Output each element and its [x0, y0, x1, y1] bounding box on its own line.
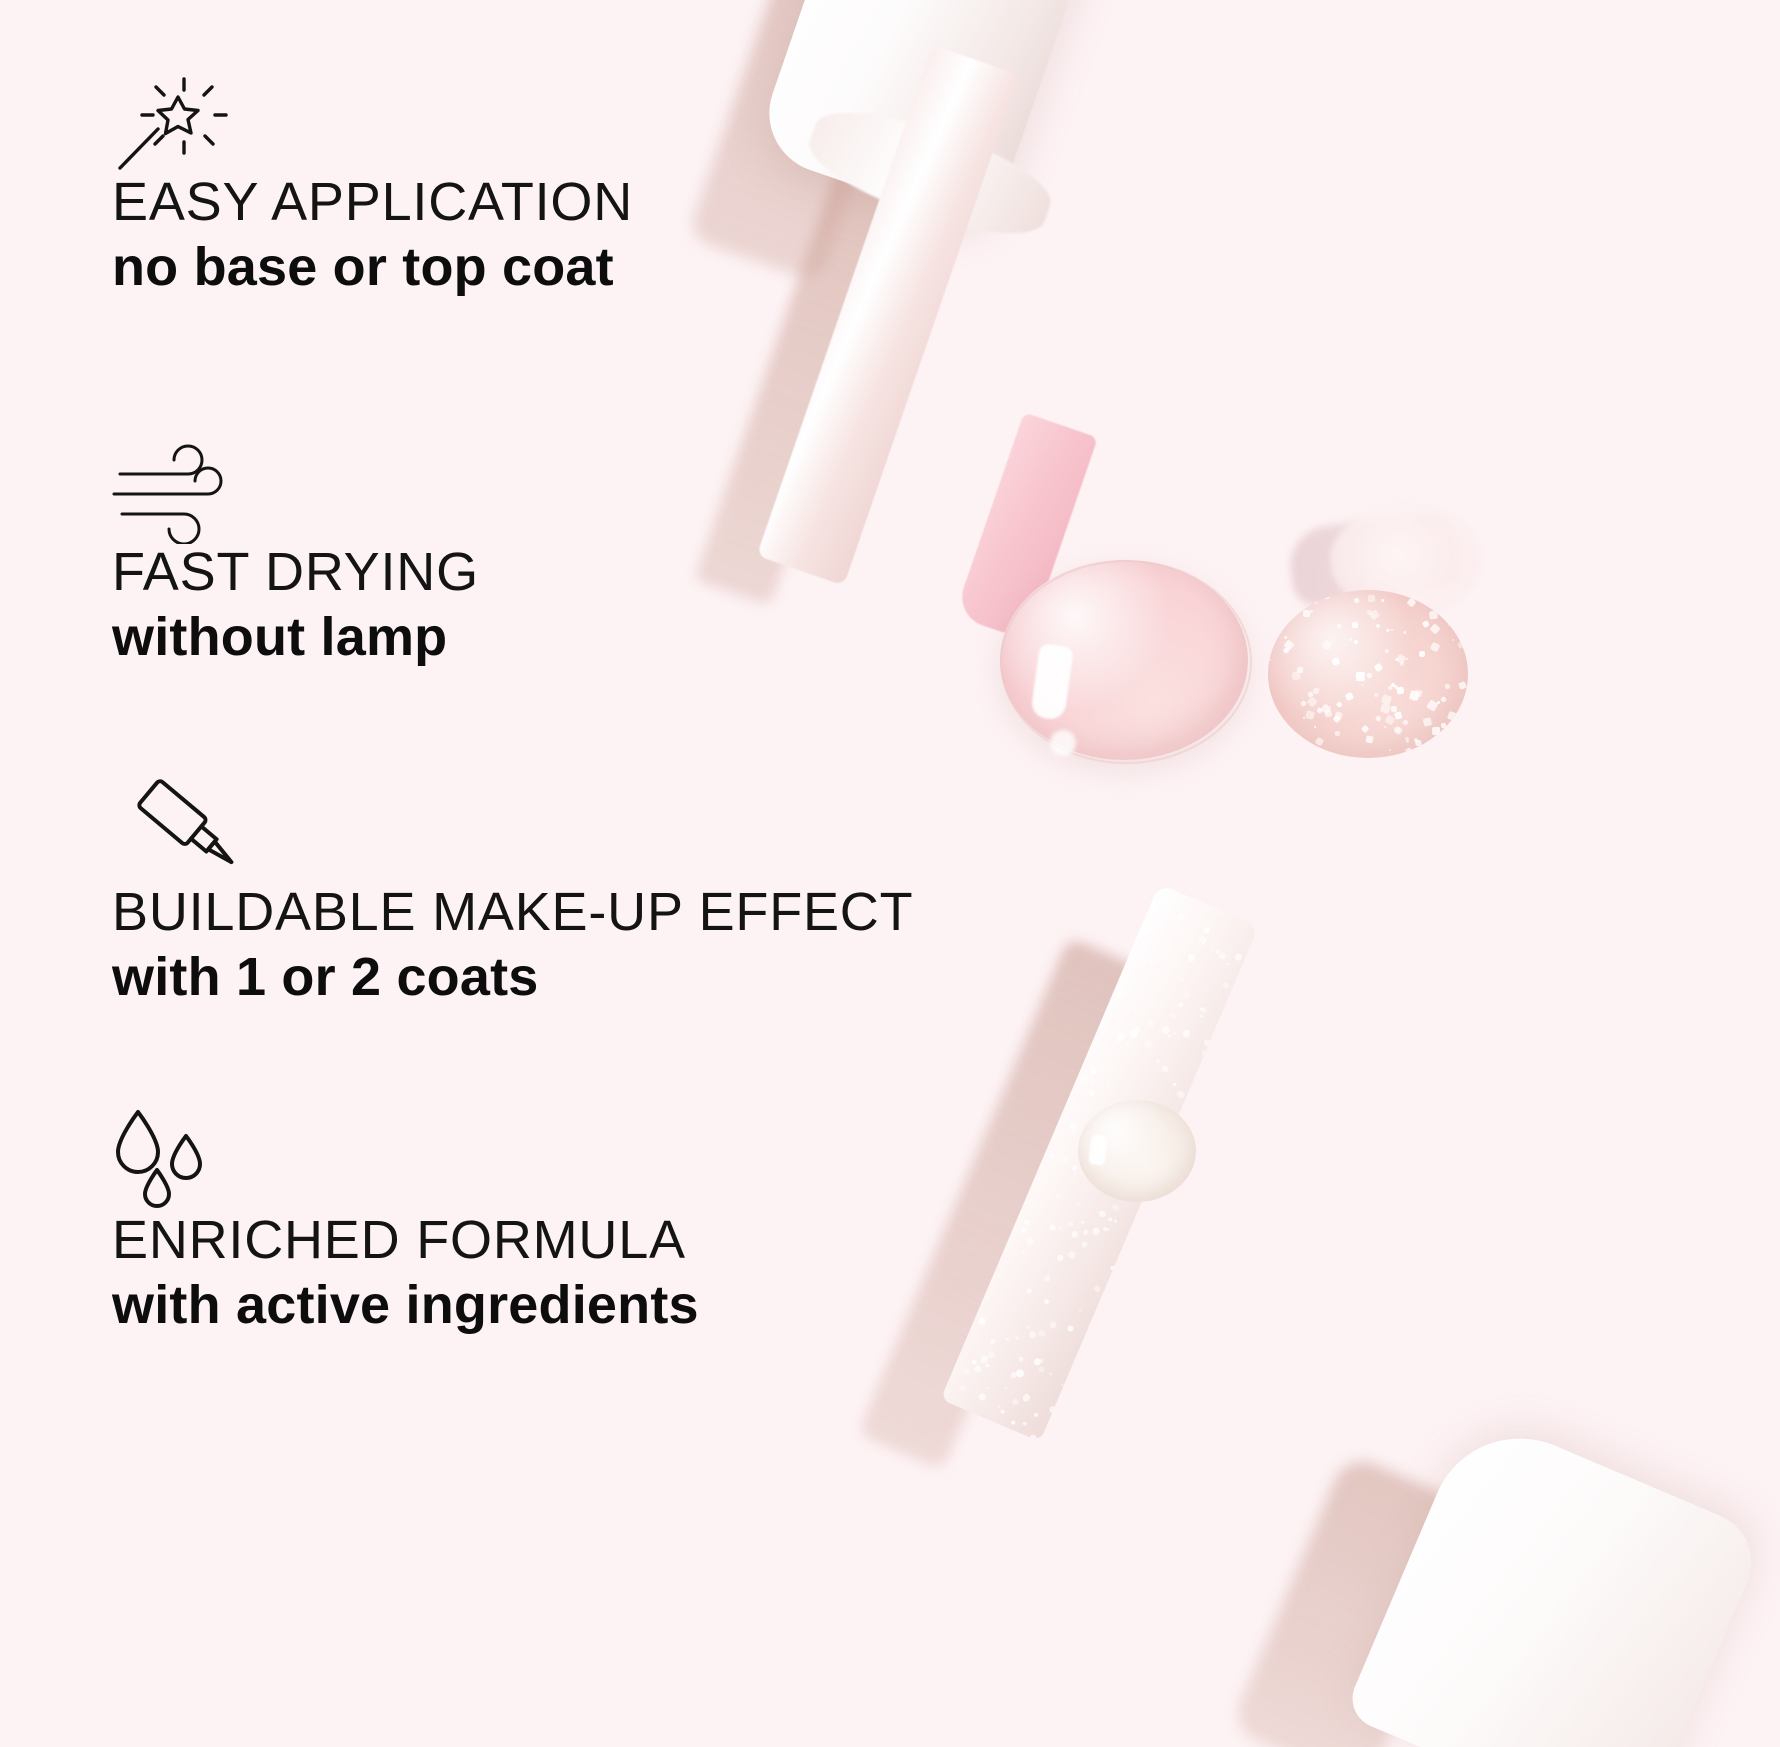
- glitter-polish-droplet: [1268, 590, 1468, 758]
- feature-title: FAST DRYING: [112, 544, 479, 601]
- pink-droplet-specular: [1030, 643, 1074, 721]
- pearl-droplet-specular: [1088, 1134, 1107, 1166]
- feature-item-fast-drying: FAST DRYING without lamp: [112, 432, 479, 668]
- pearlescent-polish-droplet: [1078, 1100, 1196, 1202]
- pink-droplet-specular-small: [1050, 730, 1076, 756]
- feature-item-easy-application: EASY APPLICATION no base or top coat: [112, 62, 633, 298]
- feature-subtitle: with active ingredients: [112, 1275, 699, 1335]
- wind-icon: [112, 432, 479, 544]
- white-bottle-cap-bottom: [1343, 1411, 1767, 1747]
- nail-polish-brush-icon: [112, 772, 913, 884]
- product-feature-graphic: EASY APPLICATION no base or top coat FAS…: [0, 0, 1780, 1747]
- feature-title: EASY APPLICATION: [112, 174, 633, 231]
- feature-subtitle: no base or top coat: [112, 237, 633, 297]
- bottom-cap-shadow: [1229, 1453, 1484, 1747]
- glossy-pink-polish-droplet: [1000, 560, 1248, 760]
- feature-title: BUILDABLE MAKE-UP EFFECT: [112, 884, 913, 941]
- feature-subtitle: without lamp: [112, 607, 479, 667]
- feature-title: ENRICHED FORMULA: [112, 1212, 699, 1269]
- glitter-droplet-smear: [1285, 509, 1464, 610]
- feature-subtitle: with 1 or 2 coats: [112, 947, 913, 1007]
- feature-item-buildable-makeup-effect: BUILDABLE MAKE-UP EFFECT with 1 or 2 coa…: [112, 772, 913, 1008]
- feature-list: EASY APPLICATION no base or top coat FAS…: [0, 0, 1000, 1747]
- water-droplets-icon: [112, 1100, 699, 1212]
- pink-droplet-rim: [1000, 560, 1252, 764]
- glitter-droplet-highlight: [1330, 505, 1480, 615]
- magic-wand-sparkle-icon: [112, 62, 633, 174]
- feature-item-enriched-formula: ENRICHED FORMULA with active ingredients: [112, 1100, 699, 1336]
